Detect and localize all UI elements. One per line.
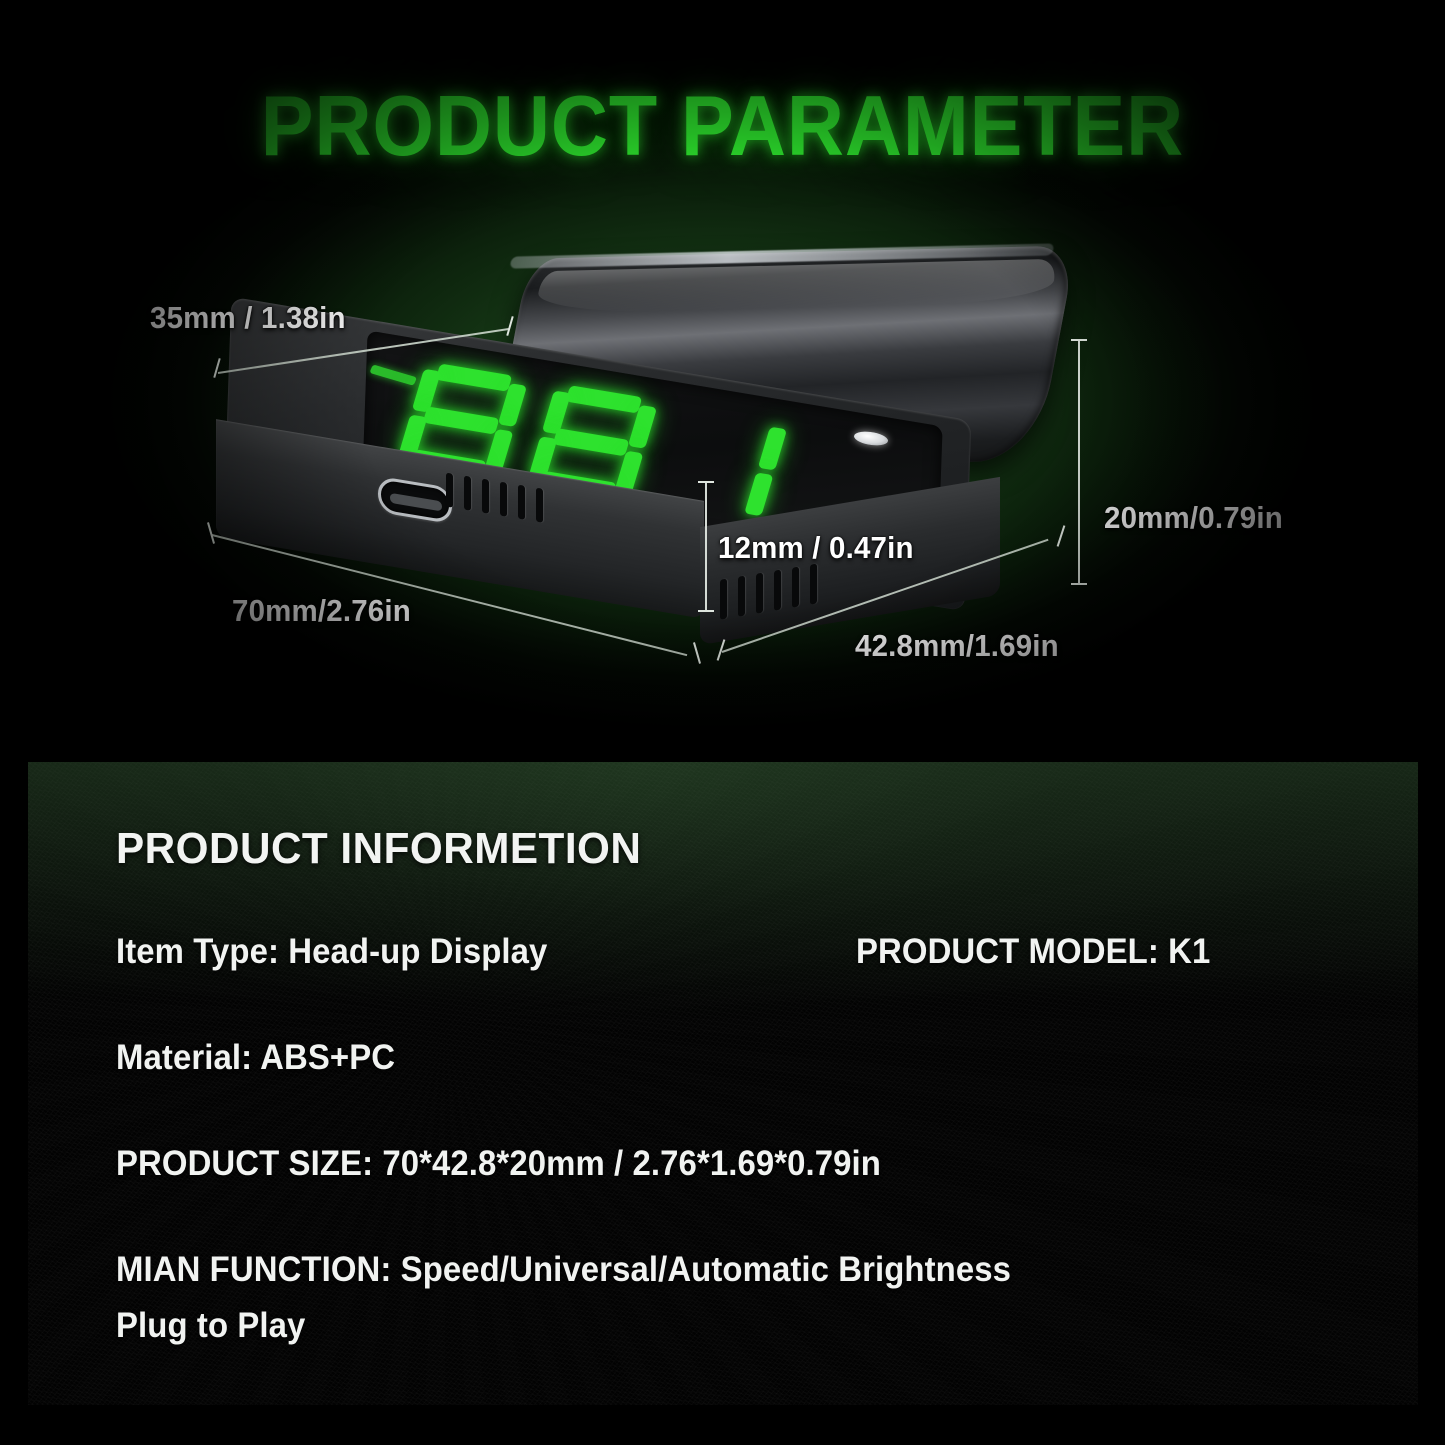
spec-row: Item Type: Head-up Display PRODUCT MODEL…	[116, 932, 1418, 972]
dimension-label-depth: 42.8mm/1.69in	[855, 628, 1059, 664]
dimension-label-height-total: 20mm/0.79in	[1104, 500, 1283, 536]
dimension-tick	[1071, 339, 1087, 341]
product-hero-section: PRODUCT PARAMETER	[0, 0, 1445, 762]
spec-product-model: PRODUCT MODEL: K1	[856, 932, 1210, 972]
spec-row: Material: ABS+PC	[116, 1038, 1418, 1078]
dimension-label-depth-top: 35mm / 1.38in	[150, 300, 346, 336]
dimension-label-width: 70mm/2.76in	[232, 593, 411, 629]
product-information-panel: PRODUCT INFORMETION Item Type: Head-up D…	[28, 762, 1418, 1405]
dimension-line-height-front	[705, 482, 707, 612]
dimension-tick	[698, 610, 714, 612]
dimension-line-height-total	[1078, 340, 1080, 585]
dimension-label-height-front: 12mm / 0.47in	[718, 530, 914, 566]
spec-material: Material: ABS+PC	[116, 1038, 1340, 1078]
spec-main-function-continued: Plug to Play	[116, 1306, 1340, 1346]
dimension-tick	[1071, 583, 1087, 585]
spec-row: MIAN FUNCTION: Speed/Universal/Automatic…	[116, 1250, 1418, 1346]
spec-row: PRODUCT SIZE: 70*42.8*20mm / 2.76*1.69*0…	[116, 1144, 1418, 1184]
info-section-title: PRODUCT INFORMETION	[116, 824, 1366, 874]
spec-product-size: PRODUCT SIZE: 70*42.8*20mm / 2.76*1.69*0…	[116, 1144, 1340, 1184]
display-unit-label	[369, 364, 417, 385]
page-title: PRODUCT PARAMETER	[51, 78, 1395, 176]
spec-main-function: MIAN FUNCTION: Speed/Universal/Automatic…	[116, 1250, 1340, 1290]
dimension-tick	[698, 481, 714, 483]
